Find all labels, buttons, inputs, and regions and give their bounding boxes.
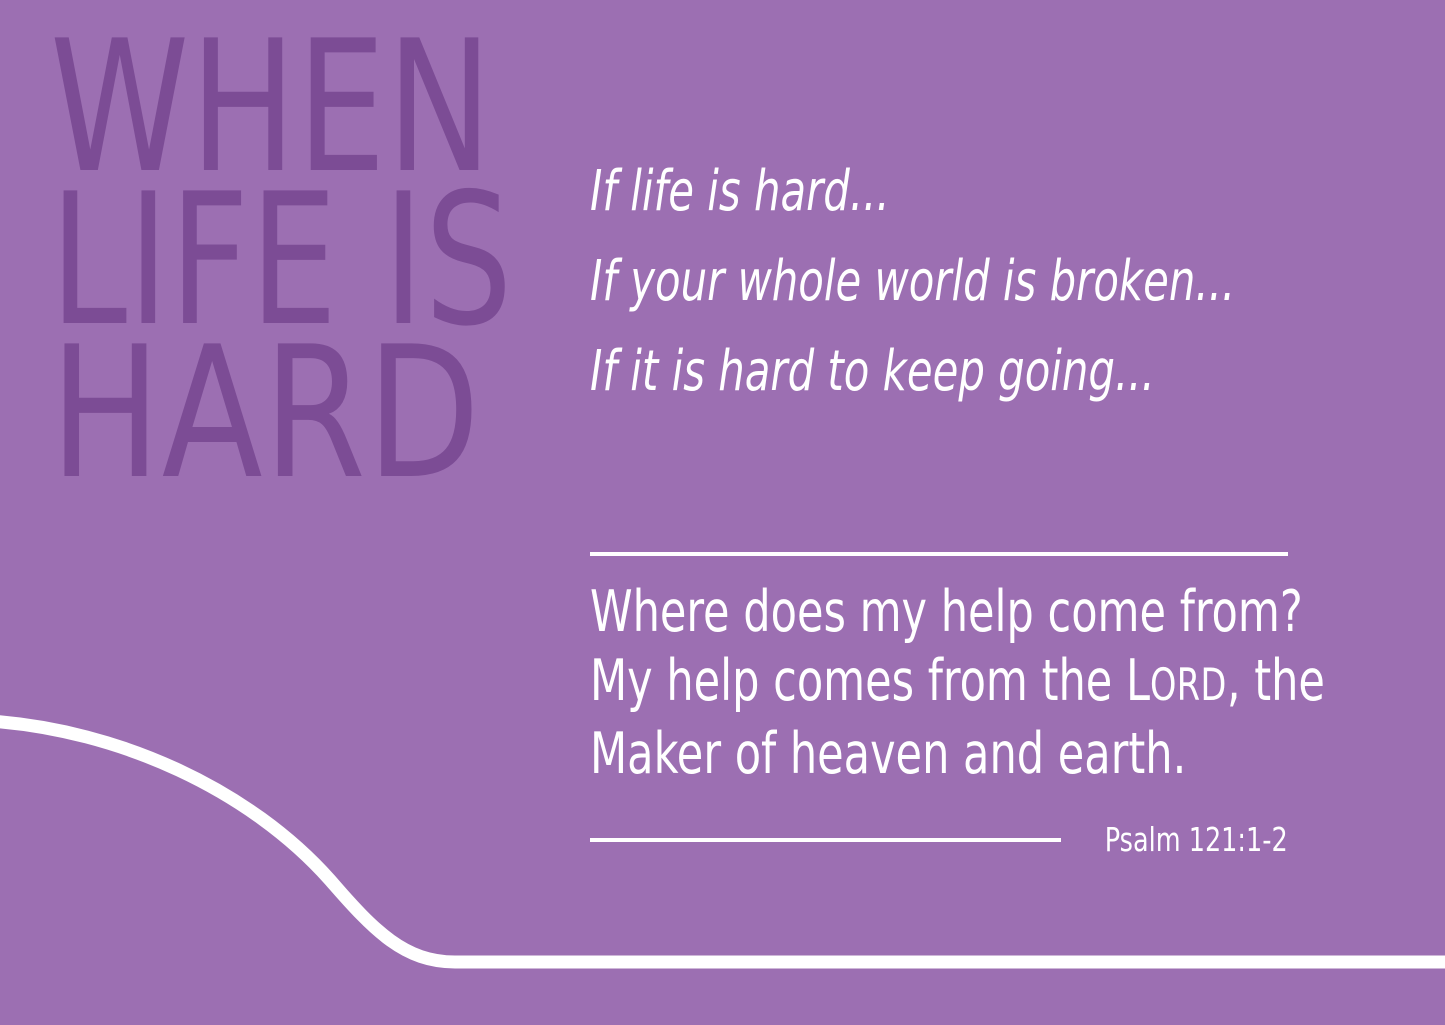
verse-line-2-after: , the: [1227, 648, 1325, 714]
intro-line-2: If your whole world is broken...: [590, 237, 1246, 327]
intro-block: If life is hard... If your whole world i…: [590, 147, 1380, 417]
scripture-block: Where does my help come from? My help co…: [590, 552, 1288, 857]
verse-line-2-before: My help comes from the: [590, 648, 1126, 714]
page-title: WHEN LIFE IS HARD: [50, 20, 520, 479]
poster-canvas: WHEN LIFE IS HARD If life is hard... If …: [0, 0, 1445, 1025]
citation-rule: [590, 838, 1061, 842]
intro-line-1: If life is hard...: [590, 147, 1246, 237]
headline-line-3: HARD: [50, 326, 473, 479]
divine-name-cap: L: [1126, 648, 1150, 714]
verse-line-2: My help comes from the LORD, the: [590, 647, 1176, 720]
divine-name-smallcaps: ORD: [1150, 660, 1227, 711]
verse-line-1: Where does my help come from?: [590, 578, 1176, 647]
intro-line-3: If it is hard to keep going...: [590, 327, 1246, 417]
headline-line-1: WHEN: [50, 20, 454, 173]
citation-row: Psalm 121:1-2: [590, 823, 1288, 857]
headline-line-2: LIFE IS: [50, 173, 447, 326]
scripture-verse: Where does my help come from? My help co…: [590, 578, 1288, 789]
scripture-top-rule: [590, 552, 1288, 556]
scripture-reference: Psalm 121:1-2: [1105, 823, 1288, 857]
verse-line-3: Maker of heaven and earth.: [590, 720, 1176, 789]
